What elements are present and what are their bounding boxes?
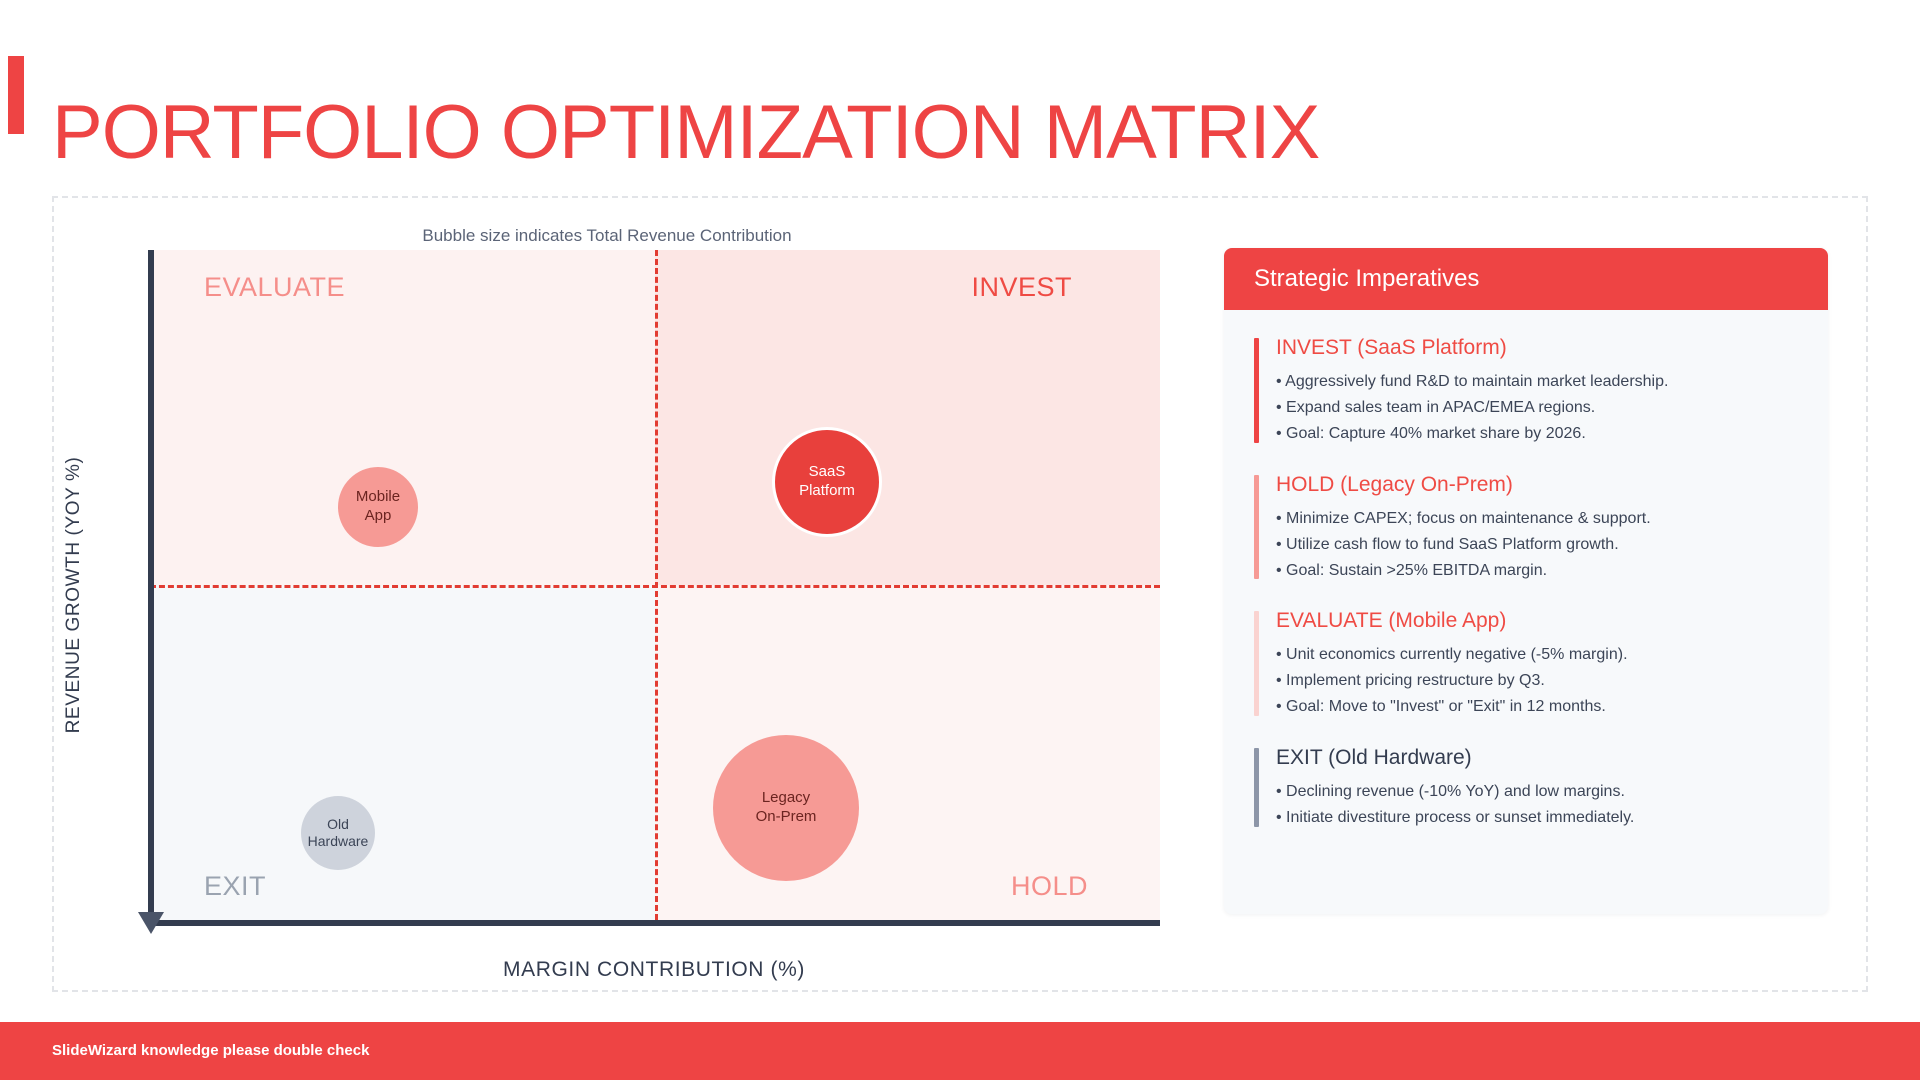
imperative-section: HOLD (Legacy On-Prem)• Minimize CAPEX; f…	[1254, 473, 1802, 584]
footer-text: SlideWizard knowledge please double chec…	[52, 1042, 369, 1059]
imperative-section: EVALUATE (Mobile App)• Unit economics cu…	[1254, 609, 1802, 720]
imperative-bullet: • Unit economics currently negative (-5%…	[1276, 642, 1802, 668]
slide-canvas: PORTFOLIO OPTIMIZATION MATRIX Bubble siz…	[0, 0, 1920, 1080]
bubble-saas-platform[interactable]: SaaSPlatform	[772, 427, 882, 537]
imperative-accent-bar	[1254, 475, 1259, 580]
bubble-mobile-app[interactable]: MobileApp	[338, 467, 418, 547]
bubble-label-line2: Platform	[799, 482, 855, 501]
imperative-section: EXIT (Old Hardware)• Declining revenue (…	[1254, 746, 1802, 831]
quadrant-label-hold: HOLD	[1011, 871, 1088, 902]
quadrant-invest[interactable]	[655, 250, 1160, 585]
quadrant-label-evaluate: EVALUATE	[204, 272, 345, 303]
imperative-section: INVEST (SaaS Platform)• Aggressively fun…	[1254, 336, 1802, 447]
strategic-imperatives-body: INVEST (SaaS Platform)• Aggressively fun…	[1224, 310, 1828, 831]
y-axis-line	[148, 250, 154, 926]
bubble-label: SaaS	[799, 463, 855, 482]
imperative-title: EVALUATE (Mobile App)	[1276, 609, 1802, 633]
quadrant-divider-vertical	[655, 250, 658, 920]
chart-subtitle: Bubble size indicates Total Revenue Cont…	[52, 226, 1162, 246]
portfolio-matrix-chart: Bubble size indicates Total Revenue Cont…	[52, 196, 1172, 992]
bubble-old-hardware[interactable]: Old Hardware	[301, 796, 375, 870]
bubble-label: Old Hardware	[301, 816, 375, 851]
plot-area: EVALUATE INVEST EXIT HOLD SaaSPlatformMo…	[150, 250, 1160, 920]
imperative-bullet: • Goal: Capture 40% market share by 2026…	[1276, 421, 1802, 447]
bubble-label-line2: App	[356, 507, 400, 526]
footer-bar: SlideWizard knowledge please double chec…	[0, 1022, 1920, 1080]
x-axis-line	[148, 920, 1160, 926]
imperative-accent-bar	[1254, 748, 1259, 827]
bubble-label: Legacy	[756, 789, 817, 808]
strategic-imperatives-header: Strategic Imperatives	[1224, 248, 1828, 310]
page-title: PORTFOLIO OPTIMIZATION MATRIX	[52, 93, 1319, 173]
imperative-bullet: • Aggressively fund R&D to maintain mark…	[1276, 369, 1802, 395]
quadrant-hold[interactable]	[655, 585, 1160, 920]
quadrant-exit[interactable]	[150, 585, 655, 920]
title-accent-bar	[8, 56, 24, 134]
imperative-accent-bar	[1254, 338, 1259, 443]
imperative-bullet: • Goal: Move to "Invest" or "Exit" in 12…	[1276, 694, 1802, 720]
strategic-imperatives-title: Strategic Imperatives	[1254, 265, 1479, 293]
imperative-bullet: • Goal: Sustain >25% EBITDA margin.	[1276, 558, 1802, 584]
imperative-bullet: • Implement pricing restructure by Q3.	[1276, 668, 1802, 694]
imperative-title: HOLD (Legacy On-Prem)	[1276, 473, 1802, 497]
bubble-label: Mobile	[356, 488, 400, 507]
imperative-bullet: • Declining revenue (-10% YoY) and low m…	[1276, 779, 1802, 805]
bubble-label-line2: On-Prem	[756, 808, 817, 827]
quadrant-label-invest: INVEST	[971, 272, 1072, 303]
imperative-bullet: • Initiate divestiture process or sunset…	[1276, 805, 1802, 831]
bubble-legacy-on-prem[interactable]: LegacyOn-Prem	[713, 735, 859, 881]
imperative-accent-bar	[1254, 611, 1259, 716]
quadrant-label-exit: EXIT	[204, 871, 266, 902]
y-axis-label: REVENUE GROWTH (YOY %)	[63, 285, 85, 905]
x-axis-label: MARGIN CONTRIBUTION (%)	[148, 958, 1160, 982]
imperative-title: EXIT (Old Hardware)	[1276, 746, 1802, 770]
strategic-imperatives-card: Strategic Imperatives INVEST (SaaS Platf…	[1224, 248, 1828, 914]
imperative-title: INVEST (SaaS Platform)	[1276, 336, 1802, 360]
axis-arrow-icon	[138, 912, 164, 934]
imperative-bullet: • Minimize CAPEX; focus on maintenance &…	[1276, 506, 1802, 532]
imperative-bullet: • Expand sales team in APAC/EMEA regions…	[1276, 395, 1802, 421]
imperative-bullet: • Utilize cash flow to fund SaaS Platfor…	[1276, 532, 1802, 558]
